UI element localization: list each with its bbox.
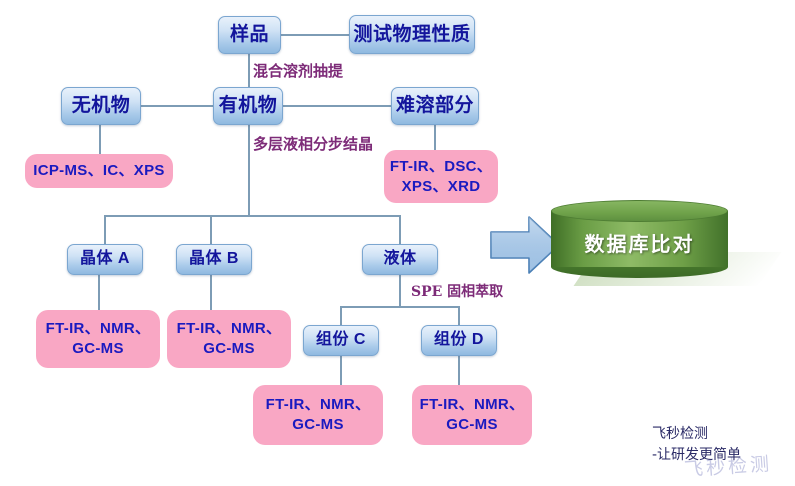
node-insoluble[interactable]: 难溶部分 [391, 87, 479, 125]
analysis-fraction-d-methods[interactable]: FT-IR、NMR、 GC-MS [412, 385, 532, 445]
node-crystal-b[interactable]: 晶体 B [176, 244, 252, 275]
node-crystal-b-label: 晶体 B [189, 250, 239, 268]
node-liquid[interactable]: 液体 [362, 244, 438, 275]
node-fraction-c[interactable]: 组份 C [303, 325, 379, 356]
node-database[interactable]: 数据库比对 [551, 200, 728, 278]
analysis-crystal-a-methods[interactable]: FT-IR、NMR、 GC-MS [36, 310, 160, 368]
connector-sample-to-physical-test [281, 34, 349, 36]
connector-crystal-a-down [98, 274, 100, 310]
analysis-fraction-c-methods-line2: GC-MS [292, 415, 344, 435]
analysis-insoluble-methods[interactable]: FT-IR、DSC、 XPS、XRD [384, 150, 498, 203]
analysis-fraction-c-methods[interactable]: FT-IR、NMR、 GC-MS [253, 385, 383, 445]
connector-organic-down [248, 124, 250, 215]
connector-insoluble-down [434, 124, 436, 150]
node-fraction-d[interactable]: 组份 D [421, 325, 497, 356]
brand-block: 飞秒检测 -让研发更简单 [652, 424, 741, 466]
node-sample[interactable]: 样品 [218, 16, 281, 54]
connector-inorganic-down [99, 124, 101, 154]
node-sample-label: 样品 [230, 24, 269, 46]
connector-branch-bar-spe [340, 306, 459, 308]
node-organic-label: 有机物 [219, 95, 278, 117]
annotation-crystallization-text: 多层液相分步结晶 [253, 135, 373, 153]
node-fraction-d-label: 组份 D [434, 331, 484, 349]
brand-line1: 飞秒检测 [652, 424, 741, 445]
analysis-fraction-d-methods-line2: GC-MS [446, 415, 498, 435]
analysis-crystal-b-methods-line1: FT-IR、NMR、 [177, 319, 282, 339]
flowchart-canvas: 样品 测试物理性质 无机物 有机物 难溶部分 晶体 A 晶体 B 液体 组份 C… [0, 0, 795, 486]
connector-to-crystal-b [210, 215, 212, 244]
annotation-extraction: 混合溶剂抽提 [253, 60, 343, 81]
connector-fraction-d-down [458, 356, 460, 385]
node-insoluble-label: 难溶部分 [396, 95, 474, 117]
connector-branch-bar-row3 [104, 215, 401, 217]
node-organic[interactable]: 有机物 [213, 87, 283, 125]
connector-liquid-down [399, 274, 401, 306]
node-physical-test-label: 测试物理性质 [353, 24, 470, 46]
node-fraction-c-label: 组份 C [316, 331, 366, 349]
node-liquid-label: 液体 [383, 250, 416, 268]
connector-to-fraction-d [458, 306, 460, 325]
node-inorganic-label: 无机物 [72, 95, 131, 117]
node-crystal-a[interactable]: 晶体 A [67, 244, 143, 275]
brand-line2: -让研发更简单 [652, 445, 741, 466]
node-crystal-a-label: 晶体 A [80, 250, 130, 268]
analysis-insoluble-methods-line1: FT-IR、DSC、 [390, 157, 492, 177]
connector-organic-insoluble [283, 105, 391, 107]
annotation-crystallization: 多层液相分步结晶 [253, 133, 373, 154]
annotation-spe: SPE 固相萃取 [411, 281, 503, 301]
connector-to-liquid [399, 215, 401, 244]
node-physical-test[interactable]: 测试物理性质 [349, 15, 475, 54]
analysis-crystal-a-methods-line1: FT-IR、NMR、 [46, 319, 151, 339]
node-inorganic[interactable]: 无机物 [61, 87, 141, 125]
analysis-inorganic-methods[interactable]: ICP-MS、IC、XPS [25, 154, 173, 188]
annotation-spe-text: SPE 固相萃取 [411, 284, 503, 300]
analysis-crystal-b-methods-line2: GC-MS [203, 339, 255, 359]
connector-to-crystal-a [104, 215, 106, 244]
node-database-label: 数据库比对 [551, 218, 728, 266]
annotation-extraction-text: 混合溶剂抽提 [253, 62, 343, 80]
analysis-inorganic-methods-text: ICP-MS、IC、XPS [33, 161, 164, 181]
analysis-fraction-d-methods-line1: FT-IR、NMR、 [420, 395, 525, 415]
analysis-insoluble-methods-line2: XPS、XRD [402, 177, 481, 197]
analysis-crystal-b-methods[interactable]: FT-IR、NMR、 GC-MS [167, 310, 291, 368]
analysis-fraction-c-methods-line1: FT-IR、NMR、 [266, 395, 371, 415]
connector-crystal-b-down [210, 274, 212, 310]
connector-to-fraction-c [340, 306, 342, 325]
connector-fraction-c-down [340, 356, 342, 385]
connector-inorganic-organic [141, 105, 215, 107]
analysis-crystal-a-methods-line2: GC-MS [72, 339, 124, 359]
